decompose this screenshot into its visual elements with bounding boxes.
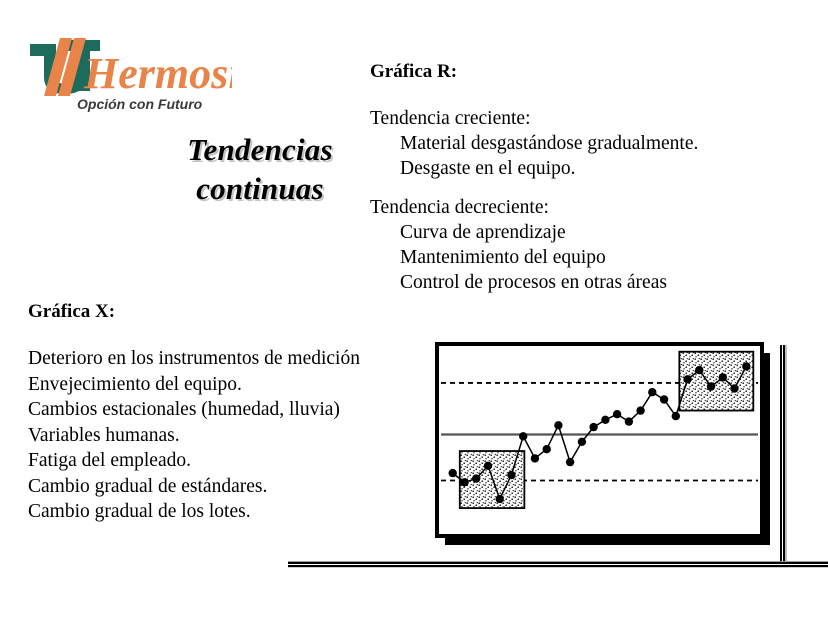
- data-point-marker: [449, 469, 457, 477]
- data-point-marker: [566, 458, 574, 466]
- x-chart-causes-block: Gráfica X: Deterioro en los instrumentos…: [28, 300, 438, 525]
- decreasing-trend-label: Tendencia decreciente:: [370, 195, 820, 220]
- decreasing-trend-item: Curva de aprendizaje: [370, 220, 820, 245]
- increasing-trend-item: Material desgastándose gradualmente.: [370, 131, 820, 156]
- data-point-marker: [719, 373, 727, 381]
- x-cause-item: Envejecimiento del equipo.: [28, 372, 438, 398]
- control-chart-canvas: [430, 340, 770, 545]
- page-title-line-1: Tendencias: [140, 130, 380, 169]
- data-point-marker: [578, 438, 586, 446]
- data-point-marker: [472, 474, 480, 482]
- decreasing-trend-item: Mantenimiento del equipo: [370, 245, 820, 270]
- data-point-marker: [660, 395, 668, 403]
- page-title: Tendencias continuas: [140, 130, 380, 208]
- x-section-heading: Gráfica X:: [28, 300, 438, 324]
- r-section-heading: Gráfica R:: [370, 60, 820, 84]
- page-title-line-2: continuas: [140, 169, 380, 208]
- data-point-marker: [519, 432, 527, 440]
- data-point-marker: [531, 454, 539, 462]
- data-point-marker: [625, 417, 633, 425]
- r-chart-causes-block: Gráfica R: Tendencia creciente: Material…: [370, 60, 820, 295]
- control-chart: [430, 340, 770, 545]
- decreasing-trend-item: Control de procesos en otras áreas: [370, 270, 820, 295]
- spacer: [370, 84, 820, 106]
- x-cause-item: Deterioro en los instrumentos de medició…: [28, 346, 438, 372]
- data-point-marker: [742, 362, 750, 370]
- x-cause-item: Fatiga del empleado.: [28, 448, 438, 474]
- decorative-vertical-rule: [780, 345, 787, 567]
- data-point-marker: [589, 423, 597, 431]
- logo-wordmark: Hermosillo: [83, 49, 232, 98]
- data-point-marker: [613, 410, 621, 418]
- data-point-marker: [507, 471, 515, 479]
- data-point-marker: [636, 406, 644, 414]
- logo-artwork: Hermosillo Opción con Futuro: [22, 36, 232, 114]
- data-point-marker: [601, 416, 609, 424]
- data-point-marker: [554, 421, 562, 429]
- data-point-marker: [683, 375, 691, 383]
- data-point-marker: [460, 478, 468, 486]
- svg-text:Hermosillo: Hermosillo: [83, 49, 232, 98]
- data-point-marker: [695, 366, 703, 374]
- x-cause-item: Variables humanas.: [28, 423, 438, 449]
- data-point-marker: [672, 412, 680, 420]
- decorative-horizontal-rule: [288, 561, 828, 568]
- data-point-marker: [707, 382, 715, 390]
- institution-logo: Hermosillo Opción con Futuro: [22, 36, 232, 114]
- increasing-trend-item: Desgaste en el equipo.: [370, 156, 820, 181]
- data-point-marker: [496, 495, 504, 503]
- spacer: [28, 324, 438, 346]
- x-cause-item: Cambio gradual de los lotes.: [28, 499, 438, 525]
- data-point-marker: [484, 462, 492, 470]
- data-point-marker: [543, 445, 551, 453]
- logo-tagline: Opción con Futuro: [77, 96, 203, 112]
- x-cause-item: Cambio gradual de estándares.: [28, 474, 438, 500]
- data-point-marker: [730, 384, 738, 392]
- data-point-marker: [648, 388, 656, 396]
- spacer: [370, 181, 820, 195]
- x-cause-item: Cambios estacionales (humedad, lluvia): [28, 397, 438, 423]
- increasing-trend-label: Tendencia creciente:: [370, 106, 820, 131]
